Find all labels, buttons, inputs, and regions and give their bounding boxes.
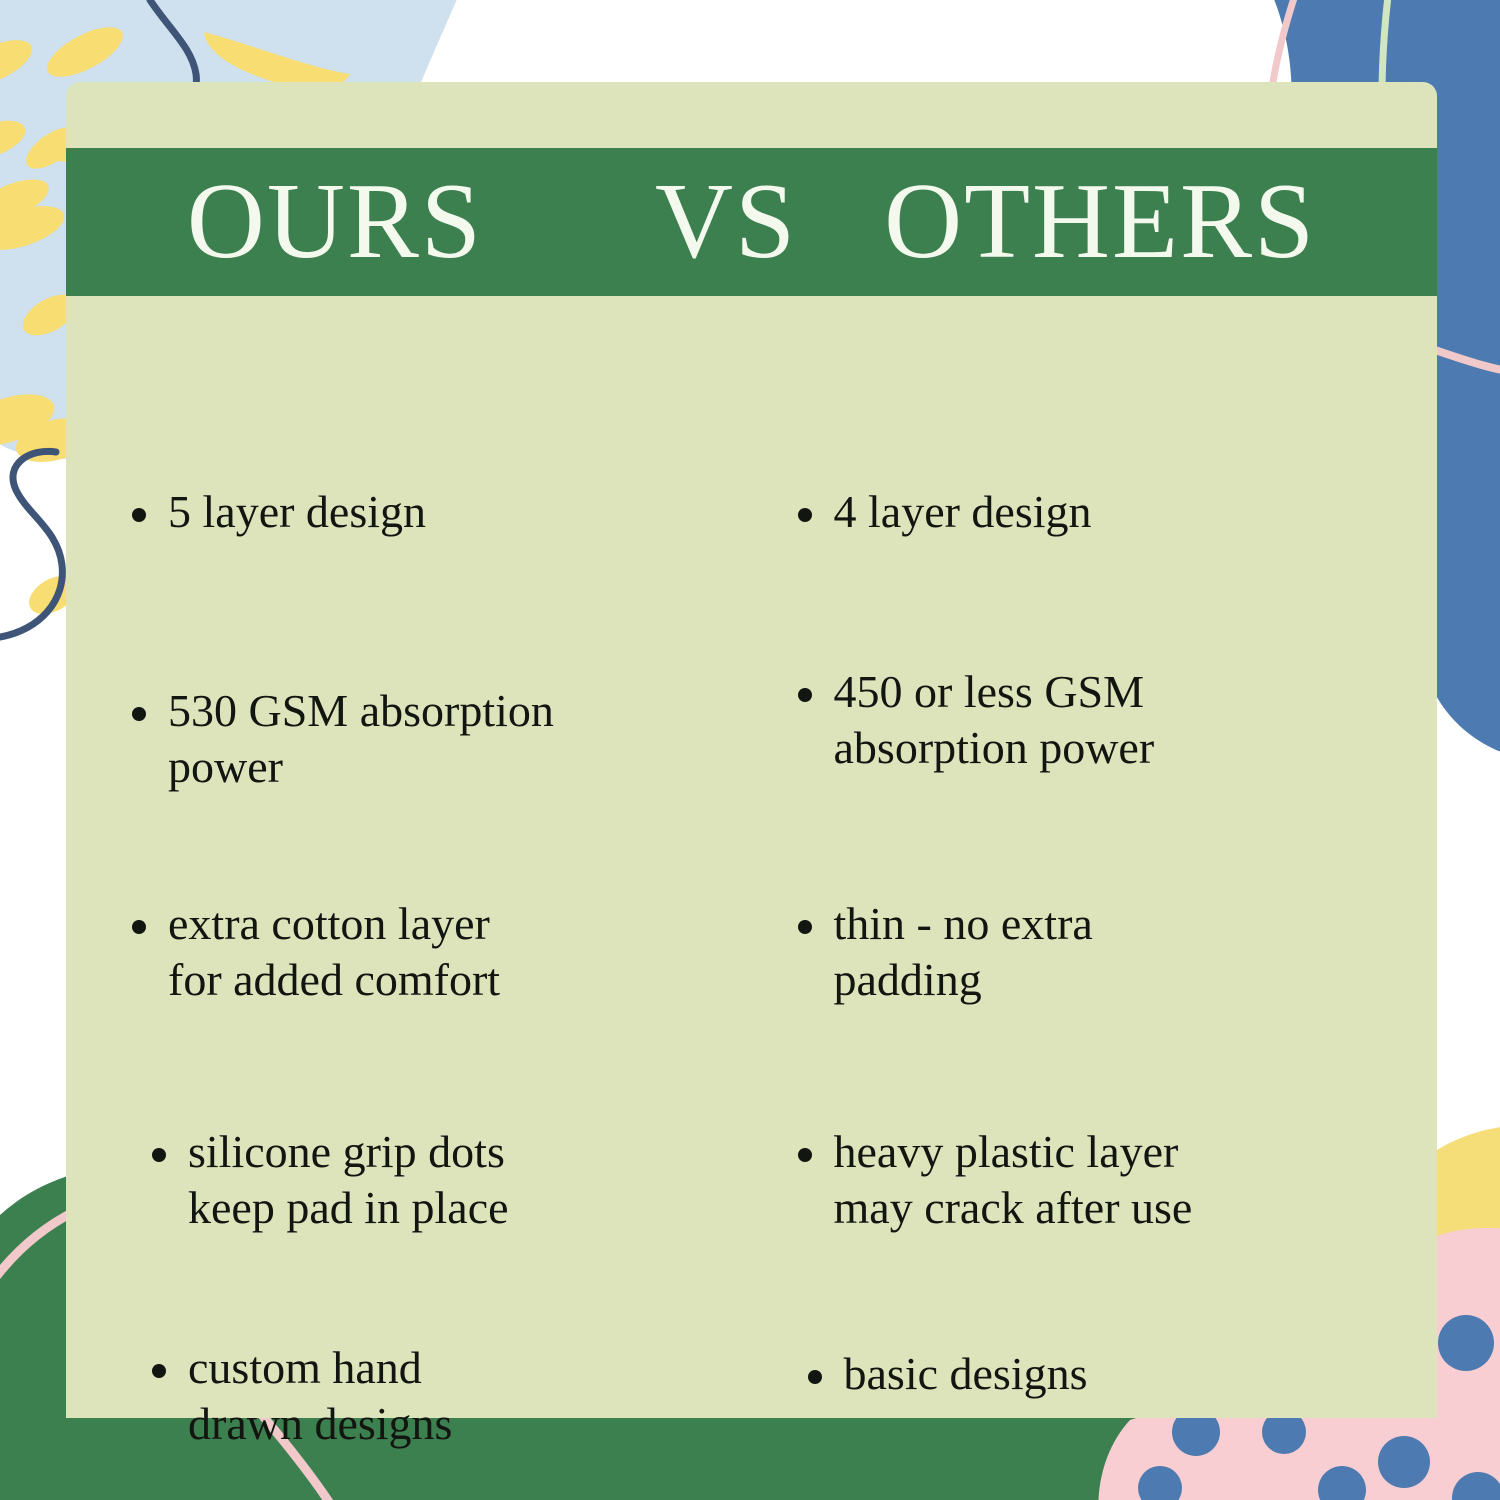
list-item-label: 530 GSM absorption power — [168, 683, 554, 795]
list-item-label: extra cotton layer for added comfort — [168, 896, 500, 1008]
bullet-dot-icon — [132, 508, 146, 522]
list-item: extra cotton layer for added comfort — [132, 896, 500, 1008]
list-item: silicone grip dots keep pad in place — [152, 1124, 509, 1236]
list-item: 5 layer design — [132, 484, 426, 540]
bullet-dot-icon — [798, 920, 812, 934]
bullet-dot-icon — [798, 688, 812, 702]
list-item: heavy plastic layer may crack after use — [798, 1124, 1193, 1236]
bullet-dot-icon — [152, 1148, 166, 1162]
list-item: custom hand drawn designs — [152, 1340, 452, 1452]
list-item: basic designs — [808, 1346, 1088, 1402]
bullet-dot-icon — [132, 920, 146, 934]
comparison-banner: OURS VS OTHERS — [66, 148, 1437, 296]
list-item-label: silicone grip dots keep pad in place — [188, 1124, 509, 1236]
banner-title: OURS VS OTHERS — [187, 168, 1316, 276]
list-item: 450 or less GSM absorption power — [798, 664, 1155, 776]
list-item-label: heavy plastic layer may crack after use — [834, 1124, 1193, 1236]
list-item-label: 4 layer design — [834, 484, 1092, 540]
bullet-dot-icon — [152, 1364, 166, 1378]
list-item: 4 layer design — [798, 484, 1092, 540]
list-item-label: custom hand drawn designs — [188, 1340, 452, 1452]
list-item-label: thin - no extra padding — [834, 896, 1093, 1008]
list-item-label: 450 or less GSM absorption power — [834, 664, 1155, 776]
bullet-dot-icon — [808, 1370, 822, 1384]
comparison-card: OURS VS OTHERS 5 layer design 530 GSM ab… — [66, 82, 1437, 1418]
list-item: thin - no extra padding — [798, 896, 1093, 1008]
list-item-label: 5 layer design — [168, 484, 426, 540]
bullet-dot-icon — [132, 707, 146, 721]
list-item-label: basic designs — [844, 1346, 1088, 1402]
list-item: 530 GSM absorption power — [132, 683, 554, 795]
bullet-dot-icon — [798, 1148, 812, 1162]
bullet-dot-icon — [798, 508, 812, 522]
